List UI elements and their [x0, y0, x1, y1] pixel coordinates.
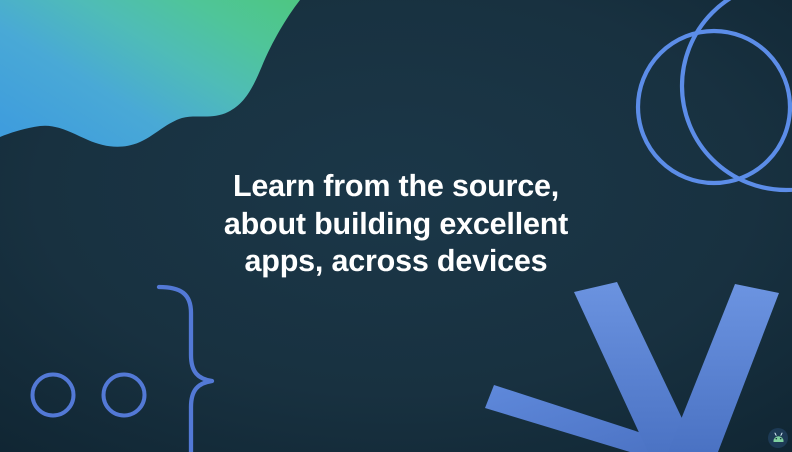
title-line-3: apps, across devices	[0, 243, 792, 281]
android-logo-badge	[768, 428, 788, 448]
slide-canvas: Learn from the source, about building ex…	[0, 0, 792, 452]
android-head-icon	[771, 431, 786, 446]
title-line-2: about building excellent	[0, 206, 792, 244]
page-title: Learn from the source, about building ex…	[0, 168, 792, 281]
title-line-1: Learn from the source,	[0, 168, 792, 206]
